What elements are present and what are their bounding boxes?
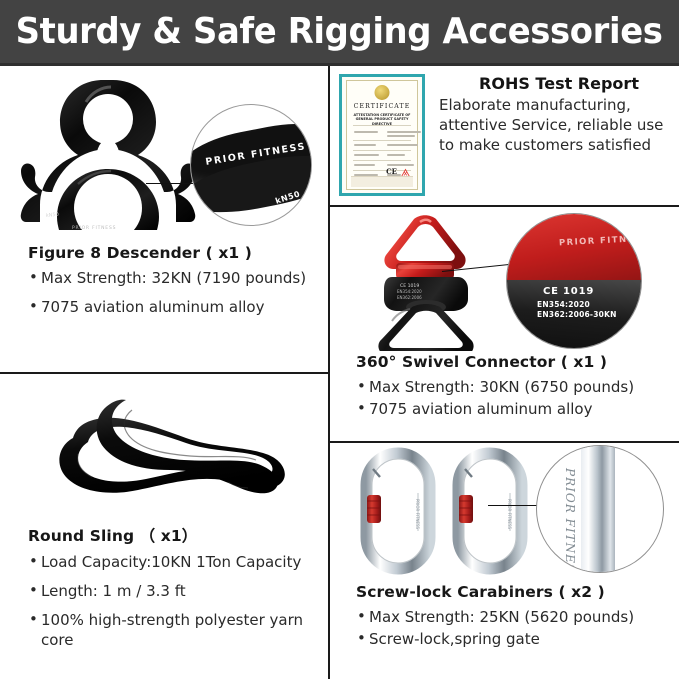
figure-8-bullet-list: Max Strength: 32KN (7190 pounds) 7075 av… — [28, 269, 328, 318]
rohs-title: ROHS Test Report — [439, 74, 679, 93]
list-item: Screw-lock,spring gate — [356, 630, 679, 650]
round-sling-title: Round Sling （ x1） — [28, 524, 333, 546]
svg-text:PRIOR FITNESS: PRIOR FITNESS — [415, 499, 420, 530]
swivel-magnifier-callout: PRIOR FITNESS CE 1019 EN354:2020 EN362:2… — [506, 213, 642, 349]
list-item: 7075 aviation aluminum alloy — [356, 400, 676, 420]
rohs-text-block: ROHS Test Report Elaborate manufacturing… — [439, 74, 679, 155]
certificate-seal-icon — [375, 85, 390, 100]
screw-lock-carabiners-photo: PRIOR FITNESS PRIOR FITNESS — [358, 447, 558, 575]
figure-8-title: Figure 8 Descender ( x1 ) — [28, 244, 328, 262]
list-item: Max Strength: 32KN (7190 pounds) — [28, 269, 328, 289]
panel-round-sling: Round Sling （ x1） Load Capacity:10KN 1To… — [0, 374, 328, 679]
carabiner-text-block: Screw-lock Carabiners ( x2 ) Max Strengt… — [356, 583, 679, 652]
list-item: Max Strength: 25KN (5620 pounds) — [356, 608, 679, 628]
svg-text:EN362:2006: EN362:2006 — [397, 295, 422, 300]
certificate-thumbnail: CERTIFICATE ATTESTATION CERTIFICATE OF G… — [339, 74, 425, 196]
svg-text:PRIOR FITNESS: PRIOR FITNESS — [72, 225, 116, 231]
certificate-ce-mark: CE — [386, 167, 397, 176]
carabiner-title: Screw-lock Carabiners ( x2 ) — [356, 583, 679, 601]
round-sling-text-block: Round Sling （ x1） Load Capacity:10KN 1To… — [28, 524, 333, 660]
swivel-bullet-list: Max Strength: 30KN (6750 pounds) 7075 av… — [356, 378, 676, 420]
figure-8-text-block: Figure 8 Descender ( x1 ) Max Strength: … — [28, 244, 328, 327]
swivel-text-block: 360° Swivel Connector ( x1 ) Max Strengt… — [356, 353, 676, 422]
swivel-standard-1-text: EN354:2020 — [537, 300, 590, 309]
panel-screw-lock-carabiners: PRIOR FITNESS PRIOR FITNESS PRIOR FITNE — [330, 443, 679, 679]
swivel-standard-2-text: EN362:2006-30KN — [537, 310, 617, 319]
list-item: 100% high-strength polyester yarn core — [28, 611, 333, 651]
figure-8-magnifier-callout: PRIOR FITNESS kN50 — [190, 104, 312, 226]
header-banner: Sturdy & Safe Rigging Accessories — [0, 0, 679, 63]
list-item: Max Strength: 30KN (6750 pounds) — [356, 378, 676, 398]
panel-figure-8-descender: kN50 PRIOR FITNESS PRIOR FITNESS kN50 Fi… — [0, 66, 328, 372]
rohs-description: Elaborate manufacturing, attentive Servi… — [439, 96, 679, 155]
swivel-ce-text: CE 1019 — [543, 286, 594, 297]
panel-rohs-test-report: CERTIFICATE ATTESTATION CERTIFICATE OF G… — [330, 66, 679, 205]
figure-8-descender-photo: kN50 PRIOR FITNESS — [8, 72, 208, 232]
list-item: Length: 1 m / 3.3 ft — [28, 582, 333, 602]
product-infographic: Sturdy & Safe Rigging Accessories — [0, 0, 679, 679]
certificate-subheading: ATTESTATION CERTIFICATE OF GENERAL PRODU… — [351, 113, 413, 126]
svg-text:PRIOR FITNESS: PRIOR FITNESS — [507, 499, 512, 530]
list-item: 7075 aviation aluminum alloy — [28, 298, 328, 318]
carabiner-bullet-list: Max Strength: 25KN (5620 pounds) Screw-l… — [356, 608, 679, 650]
page-title: Sturdy & Safe Rigging Accessories — [16, 11, 663, 52]
round-sling-bullet-list: Load Capacity:10KN 1Ton Capacity Length:… — [28, 553, 333, 651]
certificate-heading: CERTIFICATE — [352, 103, 412, 110]
round-sling-photo — [18, 380, 308, 515]
carabiner-spine-detail — [581, 445, 615, 573]
list-item: Load Capacity:10KN 1Ton Capacity — [28, 553, 333, 573]
swivel-connector-photo: CE 1019 EN354:2020 EN362:2006 — [352, 211, 512, 351]
carabiner-magnifier-callout: PRIOR FITNESS — [536, 445, 664, 573]
svg-text:EN354:2020: EN354:2020 — [397, 289, 422, 294]
swivel-title: 360° Swivel Connector ( x1 ) — [356, 353, 676, 371]
carabiner-engraving-text: PRIOR FITNESS — [563, 468, 577, 573]
panel-swivel-connector: CE 1019 EN354:2020 EN362:2006 PRIOR FITN… — [330, 207, 679, 441]
